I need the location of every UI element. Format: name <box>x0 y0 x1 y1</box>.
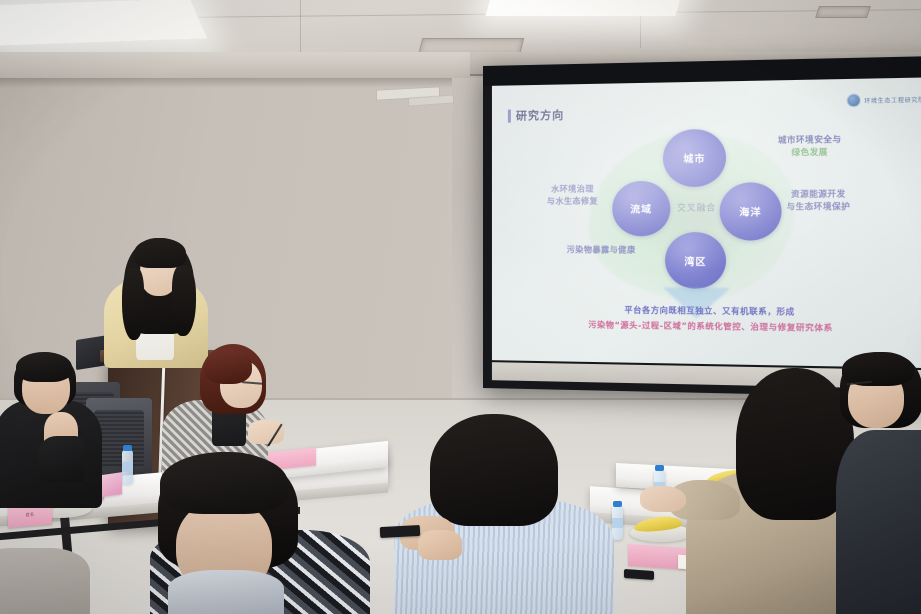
institute-logo: 环境生态工程研究院 <box>847 92 921 107</box>
conference-room-photo: 研究方向 环境生态工程研究院 城市环境安全与 绿色发展 资源能源开发 与生态环境… <box>0 0 921 614</box>
ceiling-tile-vent <box>815 6 871 18</box>
projection-screen[interactable]: 研究方向 环境生态工程研究院 城市环境安全与 绿色发展 资源能源开发 与生态环境… <box>483 56 921 398</box>
title-accent-bar <box>508 109 511 122</box>
slide-surface: 研究方向 环境生态工程研究院 城市环境安全与 绿色发展 资源能源开发 与生态环境… <box>492 77 921 368</box>
logo-emblem-icon <box>847 93 861 107</box>
bottle-label <box>122 462 133 472</box>
label-pollutant: 污染物暴露与健康 <box>544 244 659 256</box>
slide-footer: 平台各方向既相互独立、又有机联系，形成 污染物“源头-过程-区域”的系统化管控、… <box>492 302 921 338</box>
wall-shadow <box>0 78 452 88</box>
bottle-cap <box>123 445 132 451</box>
ceiling-light-left <box>0 0 207 46</box>
page-title: 研究方向 <box>516 107 564 124</box>
bottle-cap <box>655 465 664 471</box>
ceiling-seam <box>300 0 301 54</box>
bubble-city: 城市 <box>663 129 726 187</box>
slide-title-group: 研究方向 <box>508 107 564 124</box>
bubble-basin: 流域 <box>612 181 670 236</box>
bottle-label <box>612 518 623 528</box>
water-bottle[interactable] <box>612 506 623 540</box>
venn-diagram: 城市环境安全与 绿色发展 资源能源开发 与生态环境保护 水环境治理 与水生态修复… <box>492 120 921 332</box>
water-bottle[interactable] <box>122 450 133 484</box>
logo-text: 环境生态工程研究院 <box>864 95 921 104</box>
face-mask <box>168 570 284 614</box>
label-water: 水环境治理 与水生态修复 <box>520 183 626 207</box>
bubble-bay: 湾区 <box>665 232 726 289</box>
bubble-ocean: 海洋 <box>720 182 782 240</box>
label-urban: 城市环境安全与 绿色发展 <box>749 133 870 159</box>
mobile-phone[interactable] <box>380 525 421 538</box>
ceiling-light-right <box>485 0 684 16</box>
bottle-cap <box>613 501 622 507</box>
center-label: 交叉融合 <box>671 201 721 213</box>
